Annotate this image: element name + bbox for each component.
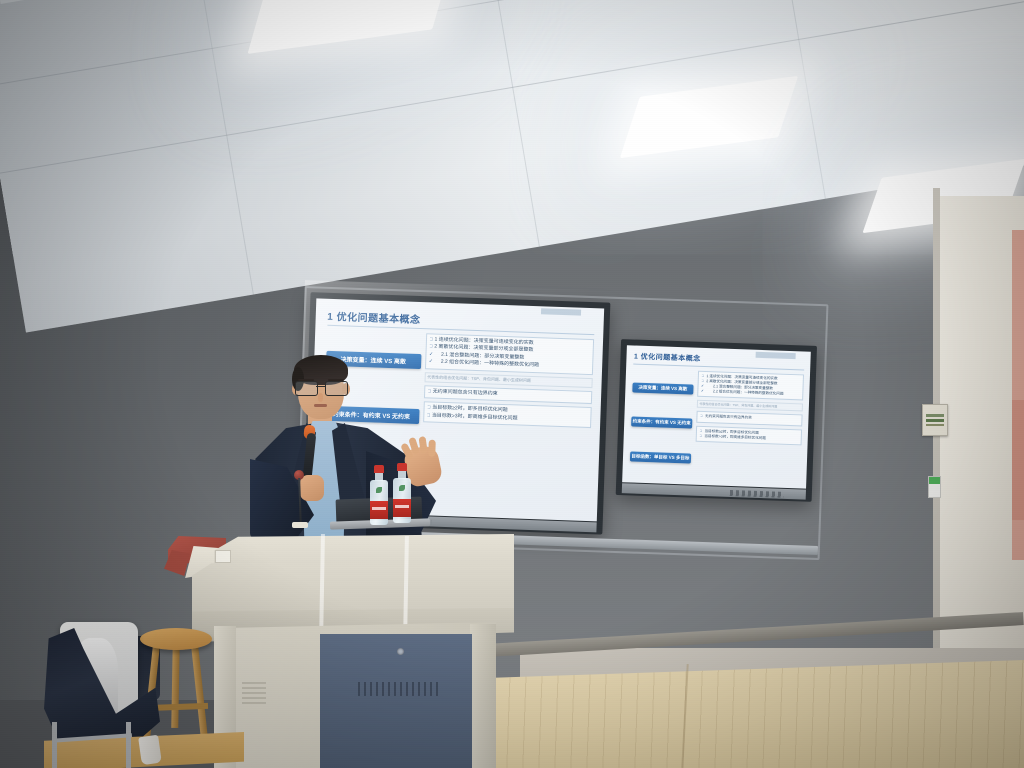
bottle-cap — [397, 463, 407, 471]
lens-left — [295, 381, 318, 396]
nose — [318, 393, 323, 402]
bullet-text: 当目标数>3时，即高维多目标优化问题 — [704, 434, 766, 440]
bullet-group-a: 1 连续优化问题：决策变量可连续变化的实数 2 离散优化问题：决策变量部分或全部… — [697, 370, 805, 401]
lectern-post-right — [470, 624, 496, 768]
bottle-cap — [374, 465, 384, 473]
slide-pill-column: 决策变量：连续 VS 离散 约束条件：有约束 VS 无约束 目标函数：单目标 V… — [630, 368, 694, 477]
bullet-item: 无约束问题包含只有边界约束 — [700, 414, 799, 423]
paper-cup[interactable] — [138, 735, 162, 766]
stool-leg — [191, 644, 208, 740]
lectern-badge — [215, 550, 231, 563]
bottle-leaf-icon — [376, 487, 382, 493]
pill-decision-variable: 决策变量：连续 VS 离散 — [633, 382, 693, 394]
pill-objective: 目标函数：单目标 VS 多目标 — [630, 451, 690, 463]
light-switch[interactable] — [928, 476, 941, 498]
hand-holding-mic — [300, 475, 324, 501]
mouth — [314, 404, 327, 407]
slide-right: 1 优化问题基本概念 决策变量：连续 VS 离散 约束条件：有约束 VS 无约束… — [622, 345, 811, 488]
slide-note: 代表性的组合优化问题：TSP、背包问题、最小生成树问题 — [696, 400, 803, 412]
bottle-leaf-icon — [399, 485, 405, 491]
lectern-lock-icon[interactable] — [397, 648, 404, 655]
secondary-display[interactable]: 1 优化问题基本概念 决策变量：连续 VS 离散 约束条件：有约束 VS 无约束… — [616, 339, 817, 502]
bullet-group-c: 当目标数≥2时，即多目标优化问题 当目标数>3时，即高维多目标优化问题 — [423, 401, 593, 428]
lens-right — [325, 381, 348, 396]
glasses-bridge — [316, 386, 325, 387]
display-brand-logo — [730, 490, 784, 498]
bullet-text: 无约束问题包含只有边界约束 — [705, 414, 752, 420]
slide-bullet-column: 1 连续优化问题：决策变量可连续变化的实数 2 离散优化问题：决策变量部分或全部… — [420, 333, 595, 506]
lectern-red-accent-side — [164, 550, 190, 576]
lectern-equipment-door[interactable] — [320, 634, 472, 768]
wall-plaque — [922, 404, 948, 436]
stool-leg — [171, 642, 179, 728]
secondary-display-surface[interactable]: 1 优化问题基本概念 决策变量：连续 VS 离散 约束条件：有约束 VS 无约束… — [622, 345, 811, 488]
bullet-group-c: 当目标数≥2时，即多目标优化问题 当目标数>3时，即高维多目标优化问题 — [695, 425, 802, 445]
lecture-hall-scene: 1 优化问题基本概念 决策变量：连续 VS 离散 约束条件：有约束 VS 无约束… — [0, 0, 1024, 768]
bullet-group-a: 1 连续优化问题：决策变量可连续变化的实数 2 离散优化问题：决策变量部分或全部… — [424, 333, 594, 375]
bullet-group-b: 无约束问题包含只有边界约束 — [696, 411, 803, 426]
bullet-item: 无约束问题包含只有边界约束 — [428, 388, 589, 401]
pill-constraints: 约束条件：有约束 VS 无约束 — [631, 417, 691, 429]
far-wall-strip-lower — [1012, 400, 1024, 520]
lectern-vent-slots — [358, 682, 438, 696]
slide-bullet-column: 1 连续优化问题：决策变量可连续变化的实数 2 离散优化问题：决策变量部分或全部… — [694, 370, 805, 481]
lectern-side-vent — [242, 682, 266, 704]
